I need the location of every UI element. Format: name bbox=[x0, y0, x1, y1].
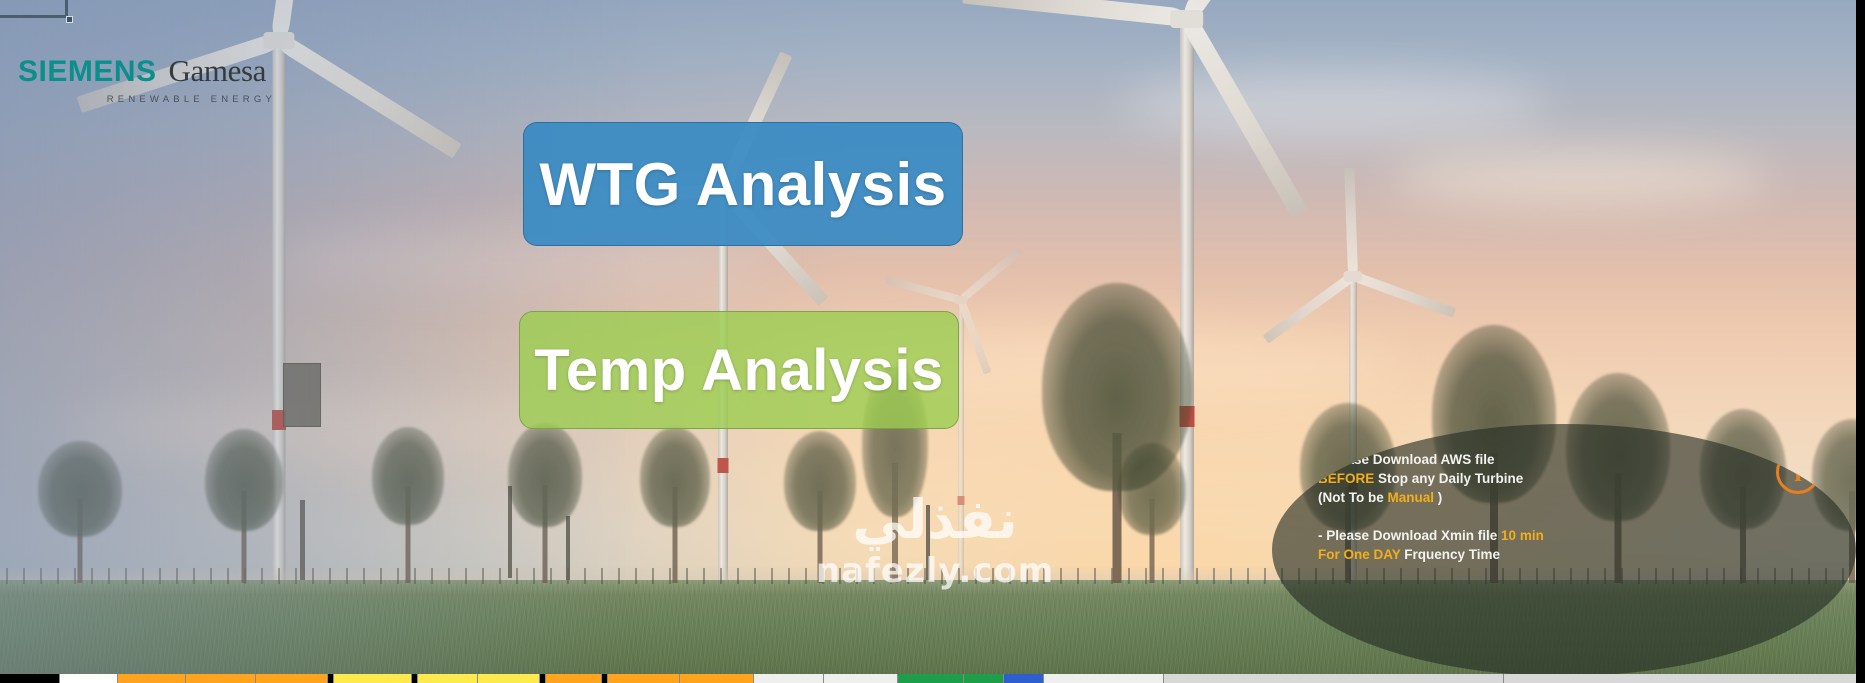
temp-analysis-button[interactable]: Temp Analysis bbox=[519, 311, 959, 429]
sheet-tab[interactable] bbox=[754, 674, 824, 683]
sheet-tab[interactable] bbox=[418, 674, 478, 683]
tree-4 bbox=[508, 485, 582, 583]
excel-sheet-tab-strip[interactable] bbox=[0, 674, 1865, 683]
sheet-tab[interactable] bbox=[898, 674, 964, 683]
info-note-1-highlight-manual: Manual bbox=[1387, 490, 1434, 505]
sheet-tab[interactable] bbox=[824, 674, 898, 683]
excel-cell-selection[interactable] bbox=[0, 0, 68, 18]
turbine-nacelle bbox=[953, 296, 967, 304]
info-note-2-part-1: - Please Download Xmin file bbox=[1318, 528, 1501, 543]
info-note-1-part-1: - Please Download AWS file bbox=[1318, 452, 1495, 467]
info-note-spacer bbox=[1318, 507, 1778, 526]
info-circle-icon: i bbox=[1776, 450, 1820, 494]
info-note-2-part-4: Frquency Time bbox=[1401, 547, 1501, 562]
tree-6 bbox=[784, 491, 856, 583]
info-note-2-highlight-oneday: For One DAY bbox=[1318, 547, 1401, 562]
turbine-nacelle bbox=[1343, 271, 1362, 281]
tree-canopy bbox=[508, 423, 582, 527]
sheet-tab[interactable] bbox=[1044, 674, 1164, 683]
excel-fill-handle[interactable] bbox=[66, 16, 73, 23]
fence-post bbox=[300, 500, 305, 580]
tree-canopy bbox=[205, 429, 283, 531]
info-note-1-highlight-before: BEFORE bbox=[1318, 471, 1374, 486]
tree-5 bbox=[640, 487, 710, 583]
sheet-tab[interactable] bbox=[964, 674, 1004, 683]
tree-canopy bbox=[1118, 443, 1186, 535]
turbine-nacelle bbox=[263, 32, 294, 49]
info-callout: - Please Download AWS file BEFORE Stop a… bbox=[1272, 424, 1856, 676]
tree-canopy bbox=[38, 441, 122, 537]
wtg-analysis-button[interactable]: WTG Analysis bbox=[523, 122, 963, 246]
sheet-tab[interactable] bbox=[1004, 674, 1044, 683]
logo-gamesa-text: Gamesa bbox=[169, 55, 266, 86]
tree-7 bbox=[862, 463, 928, 583]
logo-siemens-text: SIEMENS bbox=[18, 57, 157, 87]
tree-9 bbox=[1118, 499, 1186, 583]
turbine-warning-band bbox=[957, 496, 964, 505]
sheet-tab[interactable] bbox=[478, 674, 540, 683]
sheet-tab[interactable] bbox=[680, 674, 754, 683]
sheet-tab[interactable] bbox=[546, 674, 602, 683]
info-note-1-part-6: ) bbox=[1434, 490, 1442, 505]
turbine-warning-band bbox=[717, 458, 728, 473]
tree-2 bbox=[205, 491, 283, 583]
sheet-tab[interactable] bbox=[256, 674, 328, 683]
cloud bbox=[1390, 150, 1770, 205]
sheet-tab[interactable] bbox=[60, 674, 118, 683]
tree-3 bbox=[372, 487, 444, 583]
info-note-2-line-1: - Please Download Xmin file 10 min bbox=[1318, 526, 1778, 545]
sheet-tab[interactable] bbox=[608, 674, 680, 683]
info-note-1-part-3: Stop any Daily Turbine bbox=[1374, 471, 1523, 486]
sheet-tab[interactable] bbox=[334, 674, 412, 683]
app-screen: SIEMENS Gamesa RENEWABLE ENERGY WTG Anal… bbox=[0, 0, 1865, 683]
tree-1 bbox=[38, 499, 122, 583]
info-note-2-highlight-10min: 10 min bbox=[1501, 528, 1544, 543]
turbine-distant bbox=[960, 300, 961, 582]
tree-canopy bbox=[784, 431, 856, 531]
info-note-1-line-2: BEFORE Stop any Daily Turbine bbox=[1318, 469, 1778, 488]
info-note-1-line-1: - Please Download AWS file bbox=[1318, 450, 1778, 469]
info-note-2-line-2: For One DAY Frquency Time bbox=[1318, 545, 1778, 564]
logo-tagline: RENEWABLE ENERGY bbox=[18, 94, 278, 105]
substation-box bbox=[283, 363, 321, 427]
turbine-nacelle bbox=[1170, 10, 1204, 28]
sheet-tab[interactable] bbox=[0, 674, 60, 683]
right-gutter bbox=[1856, 0, 1865, 683]
sheet-tab[interactable] bbox=[118, 674, 186, 683]
sheet-tab[interactable] bbox=[186, 674, 256, 683]
sheet-tab[interactable] bbox=[1164, 674, 1504, 683]
tree-canopy bbox=[372, 427, 444, 525]
info-note-1-part-4: (Not To be bbox=[1318, 490, 1387, 505]
info-callout-body: - Please Download AWS file BEFORE Stop a… bbox=[1318, 450, 1778, 564]
tree-canopy bbox=[640, 427, 710, 527]
siemens-gamesa-logo: SIEMENS Gamesa RENEWABLE ENERGY bbox=[18, 55, 278, 105]
info-note-1-line-3: (Not To be Manual ) bbox=[1318, 488, 1778, 507]
